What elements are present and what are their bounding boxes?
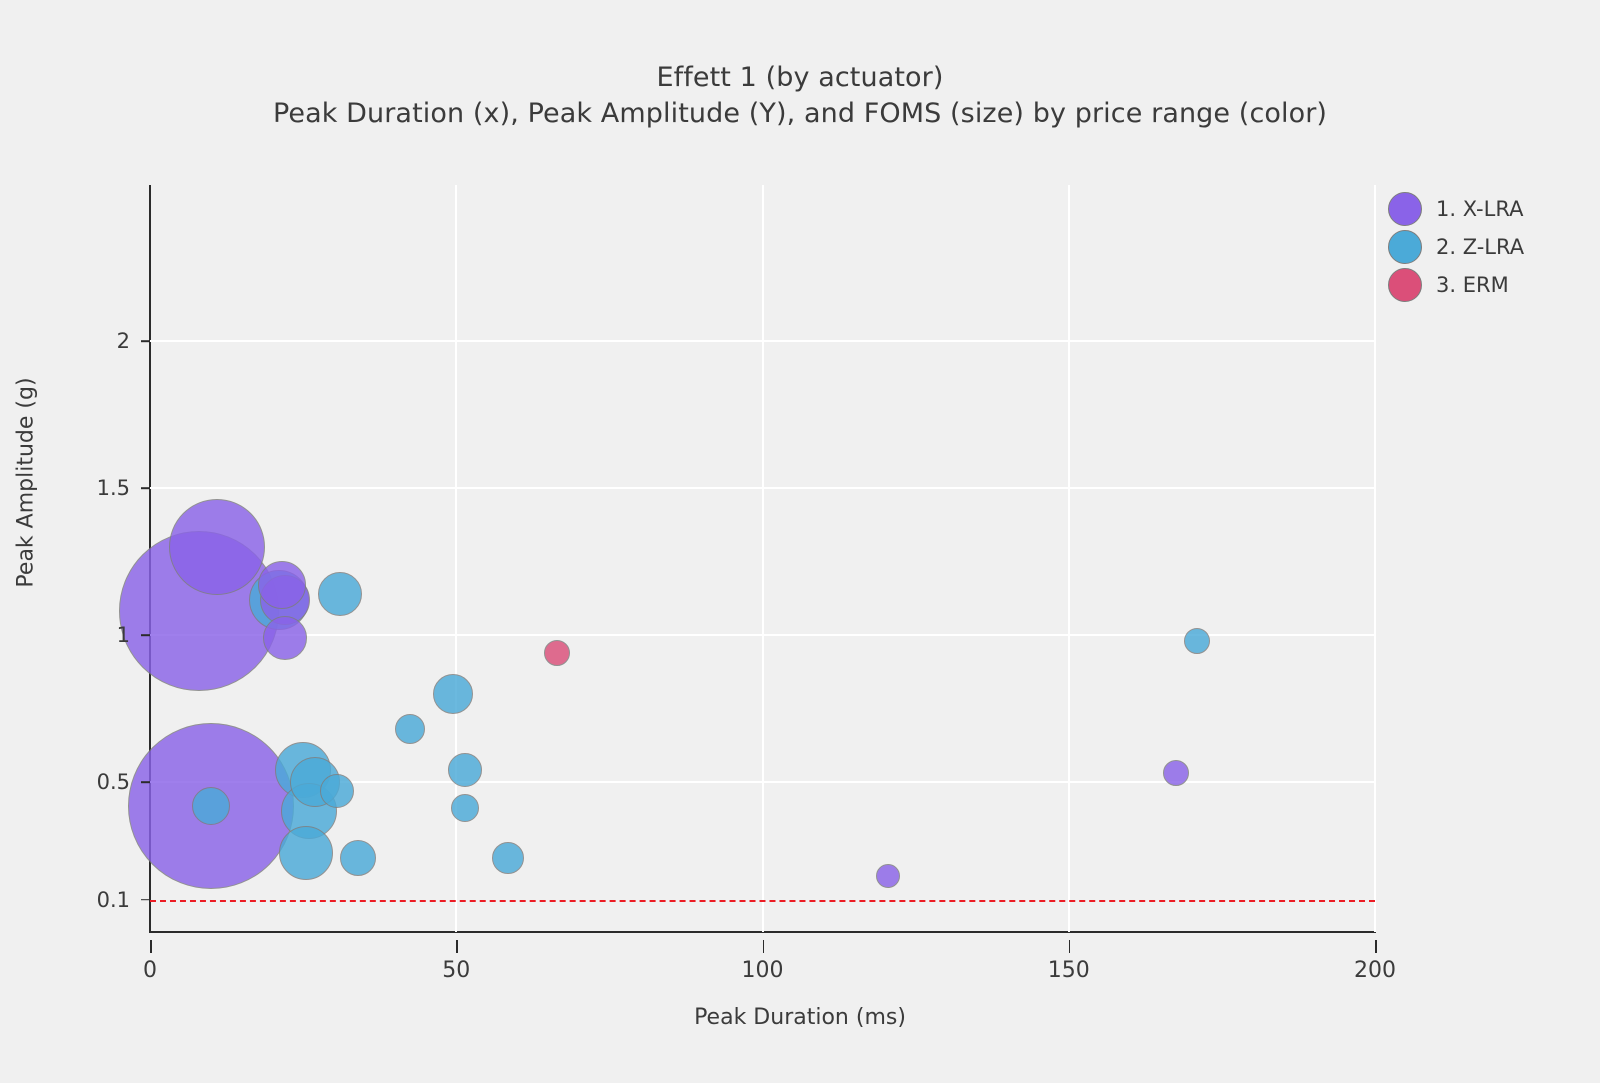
data-point-bubble: [279, 826, 333, 880]
legend-item-label: 2. Z-LRA: [1436, 235, 1524, 259]
plot-area: [150, 185, 1375, 932]
data-point-bubble: [258, 561, 306, 609]
chart-title: Effett 1 (by actuator): [0, 60, 1600, 96]
data-point-bubble: [395, 714, 425, 744]
data-point-bubble: [320, 774, 354, 808]
data-point-bubble: [876, 864, 900, 888]
legend-swatch-icon: [1388, 268, 1422, 302]
y-tick-label: 0.5: [10, 770, 130, 794]
gridline-vertical: [762, 185, 764, 932]
data-point-bubble: [1184, 628, 1210, 654]
data-point-bubble: [451, 794, 479, 822]
x-axis-label: Peak Duration (ms): [0, 1005, 1600, 1030]
threshold-line: [150, 900, 1375, 902]
data-point-bubble: [263, 616, 307, 660]
x-tick-label: 100: [703, 958, 823, 983]
data-point-bubble: [492, 842, 524, 874]
x-tick-mark: [763, 940, 765, 953]
data-point-bubble: [340, 840, 376, 876]
x-tick-label: 50: [396, 958, 516, 983]
y-tick-label: 1.5: [10, 476, 130, 500]
gridline-vertical: [1374, 185, 1376, 932]
y-tick-mark: [141, 634, 150, 636]
legend-item-label: 3. ERM: [1436, 273, 1509, 297]
x-tick-mark: [1375, 940, 1377, 953]
legend-swatch-icon: [1388, 230, 1422, 264]
chart-title-block: Effett 1 (by actuator) Peak Duration (x)…: [0, 60, 1600, 131]
data-point-bubble: [169, 499, 265, 595]
data-point-bubble: [433, 674, 473, 714]
x-tick-label: 0: [90, 958, 210, 983]
chart-subtitle: Peak Duration (x), Peak Amplitude (Y), a…: [0, 96, 1600, 132]
y-tick-mark: [141, 899, 150, 901]
x-tick-label: 150: [1009, 958, 1129, 983]
y-tick-label: 0.1: [10, 888, 130, 912]
data-point-bubble: [318, 572, 362, 616]
data-point-bubble: [192, 787, 230, 825]
x-tick-mark: [150, 940, 152, 953]
legend-item-label: 1. X-LRA: [1436, 197, 1523, 221]
y-tick-label: 2: [10, 329, 130, 353]
y-tick-label: 1: [10, 623, 130, 647]
x-tick-mark: [456, 940, 458, 953]
data-point-bubble: [1163, 760, 1189, 786]
legend-item[interactable]: 1. X-LRA: [1388, 190, 1588, 228]
y-tick-mark: [141, 487, 150, 489]
legend-item[interactable]: 2. Z-LRA: [1388, 228, 1588, 266]
chart-legend: 1. X-LRA2. Z-LRA3. ERM: [1388, 190, 1588, 304]
x-tick-label: 200: [1315, 958, 1435, 983]
y-tick-mark: [141, 340, 150, 342]
legend-swatch-icon: [1388, 192, 1422, 226]
x-tick-mark: [1069, 940, 1071, 953]
y-tick-mark: [141, 781, 150, 783]
legend-item[interactable]: 3. ERM: [1388, 266, 1588, 304]
data-point-bubble: [544, 640, 570, 666]
chart-figure: Effett 1 (by actuator) Peak Duration (x)…: [0, 0, 1600, 1083]
gridline-vertical: [1068, 185, 1070, 932]
